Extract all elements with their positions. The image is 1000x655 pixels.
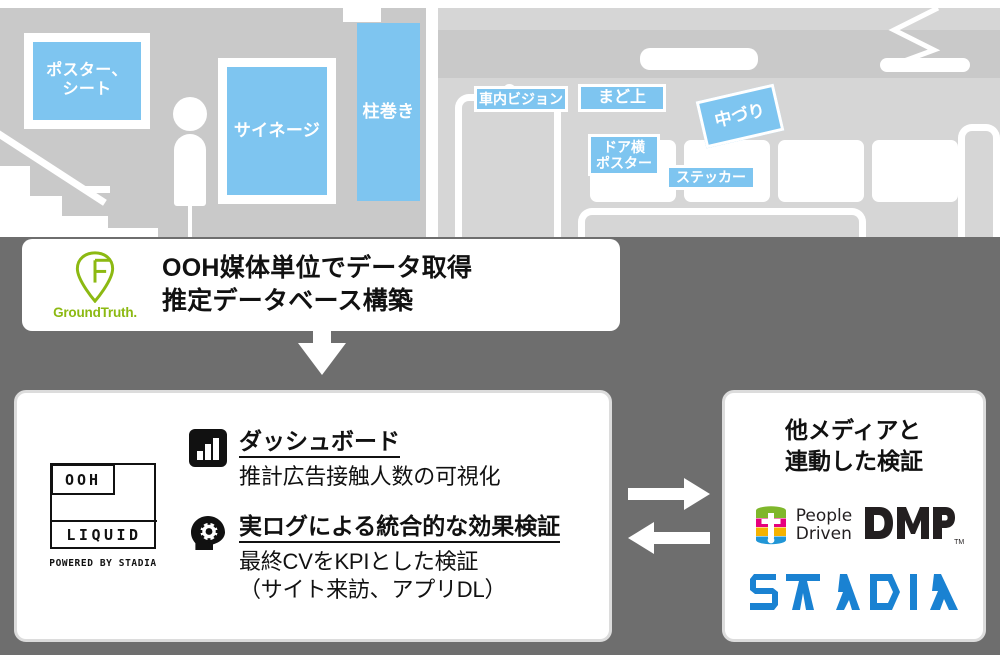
train-window [872,140,958,202]
other-media-title-line-2: 連動した検証 [785,446,923,477]
groundtruth-wordmark: GroundTruth. [53,305,137,320]
train-tag-sticker[interactable]: ステッカー [666,165,756,190]
handrail [84,186,110,193]
arrow-left-icon [628,522,710,554]
people-driven-dmp-logo: People Driven TM [753,503,955,548]
dashboard-bullets: ダッシュボード 推計広告接触人数の可視化 [189,428,609,605]
people-driven-line-1: People [796,508,852,526]
bullet-dashboard: ダッシュボード 推計広告接触人数の可視化 [189,428,599,491]
train-tag-label: 車内ビジョン [479,91,563,107]
stair-step [0,166,30,200]
trademark-symbol: TM [954,539,964,546]
dashboard-card: OOH LIQUID POWERED BY STADIA ダッシュボード 推計 [14,390,612,642]
banner-line-2: 推定データベース構築 [162,285,472,319]
media-panel-pillar-wrap[interactable]: 柱巻き [357,23,420,201]
train-window [778,140,864,202]
media-panel-label: ポスター、 シート [46,62,127,100]
media-panel-signage[interactable]: サイネージ [218,58,336,204]
train-tag-label: まど上 [598,89,646,107]
ooh-liquid-top-word: OOH [51,464,115,495]
groundtruth-banner: GroundTruth. OOH媒体単位でデータ取得 推定データベース構築 [22,239,620,331]
bullet-log-verification: 実ログによる統合的な効果検証 最終CVをKPIとした検証 （サイト来訪、アプリD… [189,513,599,604]
arrow-right-icon [628,478,710,510]
train-end-frame [958,124,1000,237]
train-tag-label: 中づり [713,101,767,132]
media-panel-poster-sheet[interactable]: ポスター、 シート [24,33,150,129]
infographic-root: ポスター、 シート サイネージ 柱巻き 車 [0,0,1000,655]
other-media-card: 他メディアと 連動した検証 People Driven [722,390,986,642]
groundtruth-logo: GroundTruth. [22,251,162,320]
bullet-heading: 実ログによる統合的な効果検証 [239,513,560,543]
person-body [174,134,206,206]
banner-text: OOH媒体単位でデータ取得 推定データベース構築 [162,252,472,319]
train-door-frame [455,94,561,237]
head-gear-icon [189,514,227,552]
bullet-subtext: 推計広告接触人数の可視化 [239,463,500,491]
banner-line-1: OOH媒体単位でデータ取得 [162,252,472,286]
bullet-subtext: 最終CVをKPIとした検証 （サイト来訪、アプリDL） [239,548,560,604]
people-driven-line-2: Driven [796,526,852,544]
ooh-liquid-bottom-word: LIQUID [51,520,157,548]
train-roof-box [640,48,758,70]
dmp-logotype-icon [863,503,955,543]
stadia-logotype-icon [748,570,960,614]
two-way-exchange-arrows [626,472,712,560]
scene-top-strip [0,0,1000,8]
person-head [173,97,207,131]
station-scene: ポスター、 シート サイネージ 柱巻き 車 [0,0,1000,237]
media-panel-label: 柱巻き [362,102,414,122]
person-leg [188,203,192,237]
ooh-liquid-mark: OOH LIQUID [50,463,156,549]
database-people-icon [753,505,789,547]
train-tag-in-car-vision[interactable]: 車内ビジョン [474,86,568,112]
wall-gap [343,0,381,22]
dmp-wordmark: TM [863,503,955,548]
train-tag-door-side-poster[interactable]: ドア横 ポスター [588,134,660,176]
train-tag-above-window[interactable]: まど上 [578,84,666,112]
ooh-liquid-tagline: POWERED BY STADIA [49,558,156,569]
other-media-title: 他メディアと 連動した検証 [785,415,923,477]
train-tag-label: ドア横 ポスター [596,139,652,171]
pantograph-icon [876,6,946,70]
down-arrow-icon [296,329,348,375]
media-panel-label: サイネージ [234,121,320,141]
train-tag-label: ステッカー [676,169,746,185]
stadia-logo [748,570,960,619]
stair-step [98,228,158,237]
other-media-title-line-1: 他メディアと [785,415,923,446]
location-pin-g-icon [71,251,119,303]
ooh-liquid-logo: OOH LIQUID POWERED BY STADIA [17,463,189,569]
bullet-heading: ダッシュボード [239,428,400,458]
people-driven-text: People Driven [796,508,852,544]
train-lower-frame [578,208,866,237]
scene-divider [426,8,438,237]
bar-chart-icon [189,429,227,467]
